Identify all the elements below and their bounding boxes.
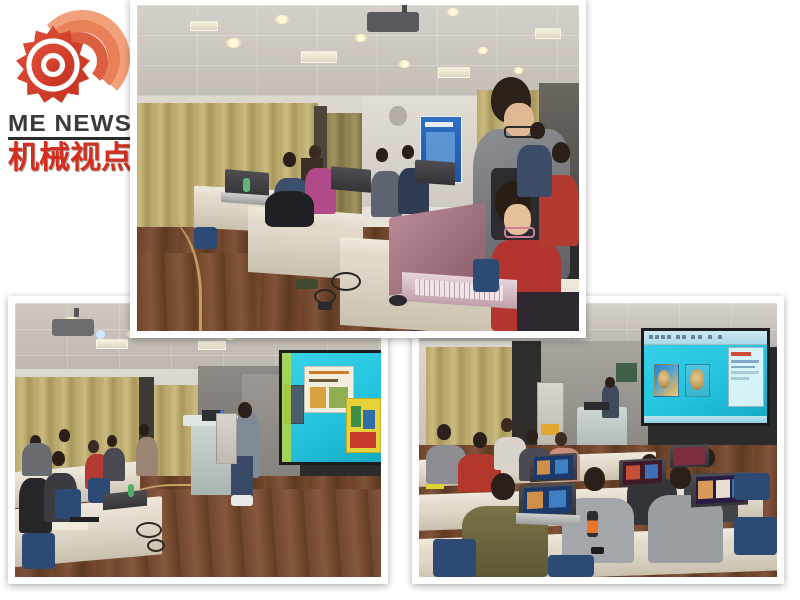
student-head [552,142,570,163]
chair [734,473,770,500]
logo-latin-text: ME NEWS [8,112,146,140]
student-head [88,440,99,453]
paper-handout [52,522,89,530]
student-head [437,424,451,440]
chair [473,259,500,292]
student-head [107,435,117,447]
laptop [530,452,577,482]
chair [22,533,55,569]
student-head [473,432,487,448]
student-head [52,451,65,466]
backpack [265,191,314,227]
students-software-demo-photo [412,296,784,584]
air-conditioner [216,413,236,464]
slide-image-right [346,398,381,452]
lecture-hall-presentation-photo [8,296,388,584]
student-head-foreground [584,467,605,491]
student-head [59,429,70,442]
podium-monitor [584,402,609,410]
student-head [501,418,513,432]
source-image-thumbnail [654,364,679,397]
power-adapter [318,302,332,310]
student-head [526,429,538,443]
ceiling-projector [367,12,419,32]
gear-icon [10,22,96,108]
properties-panel [728,347,764,406]
student-head-foreground [670,465,691,489]
sticky-note [426,484,444,489]
chair [548,555,595,577]
chair [734,517,777,555]
wall-clock [389,106,407,126]
software-statusbar [644,416,767,423]
software-demo-screen [644,331,767,424]
logo-mark [6,8,134,116]
chair [194,227,216,250]
exit-sign [616,363,637,382]
student-head [283,152,296,167]
collage-canvas: ME NEWS 机械视点 [0,0,800,600]
eyeglasses [504,227,535,238]
student-head [555,432,567,446]
software-toolbar [644,331,767,345]
notebook [517,292,579,331]
logo-wordmark: ME NEWS 机械视点 [8,112,138,175]
ceiling-projector [52,319,94,336]
laptop [619,458,666,488]
result-image-thumbnail [685,364,710,397]
projection-screen [279,350,381,465]
water-bottle [587,511,598,537]
water-bottle [128,484,134,497]
student-head [376,148,388,162]
water-bottle [243,178,250,192]
laptop [415,160,455,186]
logo-chinese-text: 机械视点 [8,142,138,175]
smartphone [591,547,604,554]
power-strip [296,279,318,289]
classroom-students-laptops-photo [130,0,586,338]
student-head [139,424,149,436]
chair [433,539,476,577]
student-head-foreground [491,473,515,500]
me-news-logo: ME NEWS 机械视点 [6,8,138,168]
student-head [402,145,414,159]
chair [55,489,81,519]
laptop [331,166,371,192]
laptop [670,444,709,468]
projection-screen [641,328,770,427]
